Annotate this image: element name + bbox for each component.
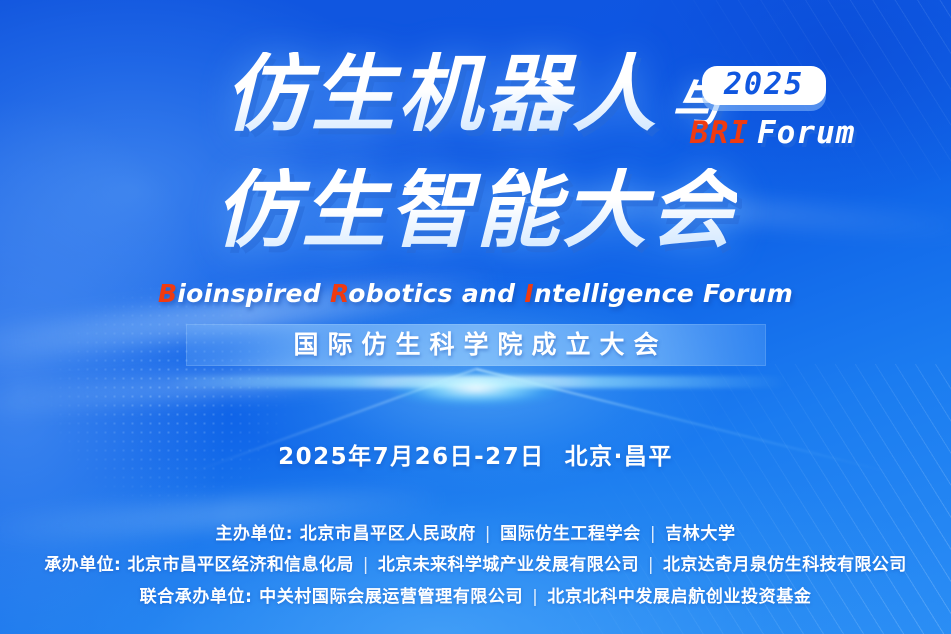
poster-content: 仿生机器人与 仿生智能大会 2025 BRIForum Bioinspired … — [0, 0, 951, 634]
separator: | — [639, 555, 663, 575]
date-location-line: 2025年7月26日-27日北京·昌平 — [0, 437, 951, 471]
sub-event-banner: 国际仿生科学院成立大会 — [186, 324, 766, 366]
co-host-organizer-item: 北京市昌平区经济和信息化局 — [128, 555, 354, 575]
english-subtitle-part: ntelligence Forum — [534, 279, 793, 308]
joint-host-organizer-item: 北京北科中发展启航创业投资基金 — [547, 587, 811, 607]
english-subtitle-part: ioinspired — [177, 279, 330, 308]
co-host-organizer-item: 北京达奇月泉仿生科技有限公司 — [663, 555, 907, 575]
main-title-line-2: 仿生智能大会 — [0, 168, 951, 252]
year-badge: 2025 — [702, 66, 826, 105]
co-host-organizer-item: 北京未来科学城产业发展有限公司 — [378, 555, 639, 575]
co-host-organizers-line: 承办单位: 北京市昌平区经济和信息化局|北京未来科学城产业发展有限公司|北京达奇… — [0, 550, 951, 575]
main-title-primary-text: 仿生机器人 — [224, 52, 659, 136]
joint-host-organizer-item: 中关村国际会展运营管理有限公司 — [259, 587, 523, 607]
separator: | — [641, 524, 665, 544]
host-organizers-line: 主办单位: 北京市昌平区人民政府|国际仿生工程学会|吉林大学 — [0, 519, 951, 544]
co-host-organizers-label: 承办单位: — [44, 555, 121, 575]
separator: | — [354, 555, 378, 575]
english-subtitle-highlight-r: R — [330, 279, 348, 308]
sub-event-banner-label: 国际仿生科学院成立大会 — [186, 324, 766, 366]
english-subtitle-highlight-b: B — [158, 279, 177, 308]
forum-wordmark: BRIForum — [690, 118, 930, 149]
year-label: 2025 — [724, 67, 804, 102]
main-title-secondary-text: 仿生智能大会 — [214, 168, 736, 252]
joint-host-organizers-line: 联合承办单位: 中关村国际会展运营管理有限公司|北京北科中发展启航创业投资基金 — [0, 582, 951, 607]
forum-word-label: Forum — [757, 115, 855, 151]
joint-host-organizers-label: 联合承办单位: — [140, 587, 253, 607]
separator: | — [523, 587, 547, 607]
event-date-label: 2025年7月26日-27日 — [278, 444, 545, 470]
english-subtitle-highlight-i: I — [524, 279, 534, 308]
host-organizer-item: 北京市昌平区人民政府 — [300, 524, 476, 544]
host-organizer-item: 国际仿生工程学会 — [500, 524, 641, 544]
host-organizers-label: 主办单位: — [215, 524, 293, 544]
english-subtitle-part: obotics and — [348, 279, 524, 308]
english-subtitle: Bioinspired Robotics and Intelligence Fo… — [0, 279, 951, 308]
forum-logo-lockup: 2025 BRIForum — [690, 66, 930, 149]
separator: | — [476, 524, 500, 544]
event-location-label: 北京·昌平 — [565, 444, 673, 470]
host-organizer-item: 吉林大学 — [665, 524, 735, 544]
bri-abbreviation-label: BRI — [690, 115, 749, 151]
conference-poster: 仿生机器人与 仿生智能大会 2025 BRIForum Bioinspired … — [0, 0, 951, 634]
